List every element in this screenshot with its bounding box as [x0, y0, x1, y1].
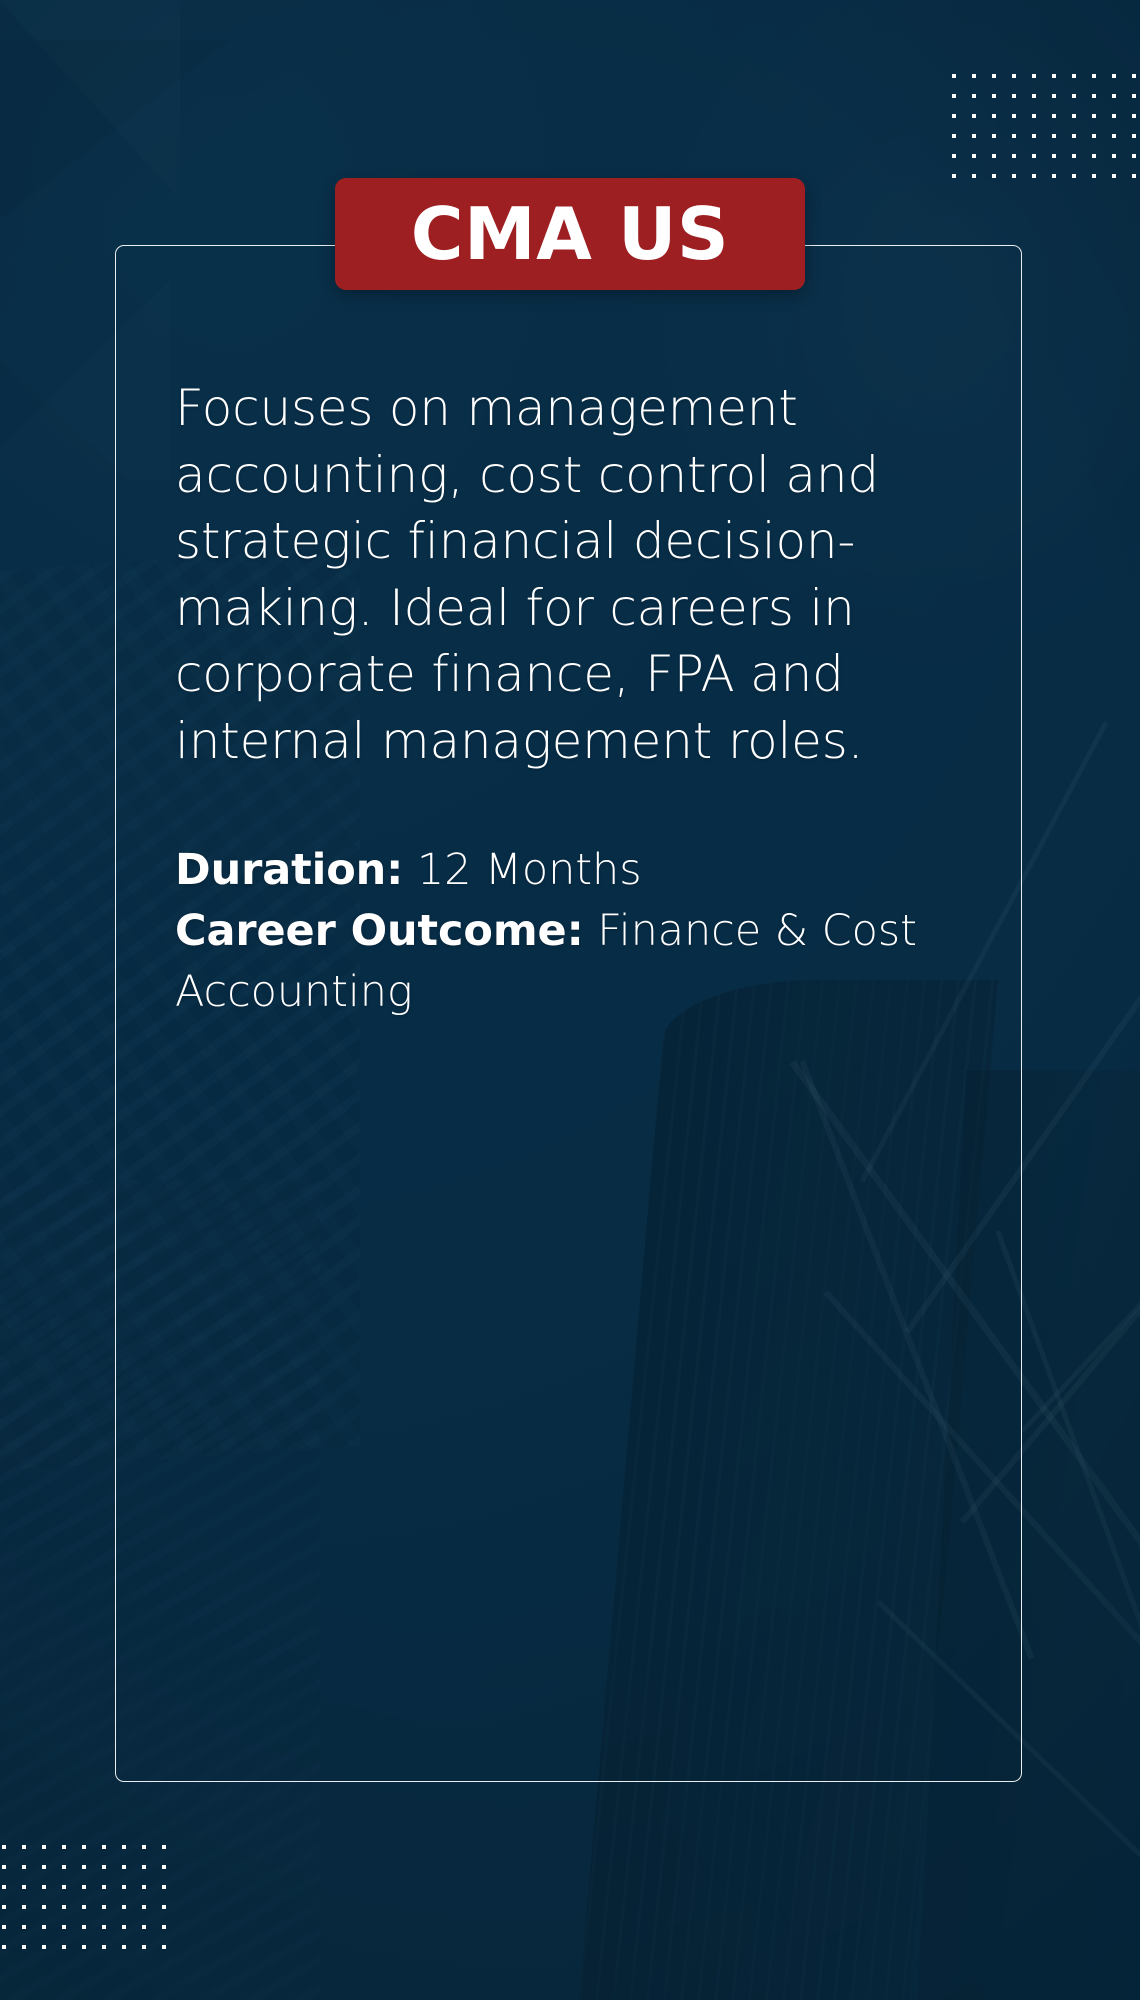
grid-dot — [2, 1865, 6, 1869]
grid-dot — [122, 1905, 126, 1909]
grid-dot — [1032, 74, 1036, 78]
grid-dot — [1112, 74, 1116, 78]
course-meta-list: Duration: 12 MonthsCareer Outcome: Finan… — [175, 840, 965, 1023]
grid-dot — [102, 1925, 106, 1929]
card-content: Focuses on management accounting, cost c… — [175, 375, 965, 1023]
grid-dot — [1032, 114, 1036, 118]
grid-dot — [42, 1845, 46, 1849]
grid-dot — [1032, 174, 1036, 178]
grid-dot — [82, 1925, 86, 1929]
grid-dot — [1092, 94, 1096, 98]
grid-dot — [992, 94, 996, 98]
grid-dot — [1052, 134, 1056, 138]
grid-dot — [62, 1865, 66, 1869]
grid-dot — [82, 1845, 86, 1849]
grid-dot — [122, 1865, 126, 1869]
grid-dot — [82, 1885, 86, 1889]
grid-dot — [992, 74, 996, 78]
grid-dot — [82, 1945, 86, 1949]
certification-badge: CMA US — [335, 178, 805, 290]
course-description: Focuses on management accounting, cost c… — [175, 375, 935, 774]
grid-dot — [1132, 74, 1136, 78]
grid-dot — [1112, 174, 1116, 178]
grid-dot — [122, 1925, 126, 1929]
grid-dot — [972, 154, 976, 158]
grid-dot — [102, 1905, 106, 1909]
grid-dot — [142, 1865, 146, 1869]
grid-dot — [142, 1925, 146, 1929]
grid-dot — [972, 94, 976, 98]
grid-dot — [1012, 174, 1016, 178]
grid-dot — [1112, 134, 1116, 138]
grid-dot — [2, 1885, 6, 1889]
grid-dot — [1032, 134, 1036, 138]
grid-dot — [102, 1845, 106, 1849]
grid-dot — [952, 174, 956, 178]
grid-dot — [972, 134, 976, 138]
grid-dot — [1012, 74, 1016, 78]
grid-dot — [1072, 114, 1076, 118]
grid-dot — [952, 74, 956, 78]
grid-dot — [1132, 154, 1136, 158]
grid-dot — [62, 1925, 66, 1929]
grid-dot — [1112, 114, 1116, 118]
grid-dot — [82, 1865, 86, 1869]
course-meta-value: 12 Months — [403, 845, 641, 895]
grid-dot — [62, 1945, 66, 1949]
grid-dot — [142, 1845, 146, 1849]
grid-dot — [162, 1885, 166, 1889]
grid-dot — [1092, 134, 1096, 138]
grid-dot — [22, 1845, 26, 1849]
grid-dot — [1012, 134, 1016, 138]
grid-dot — [22, 1885, 26, 1889]
grid-dot — [122, 1945, 126, 1949]
grid-dot — [162, 1905, 166, 1909]
grid-dot — [2, 1905, 6, 1909]
grid-dot — [142, 1905, 146, 1909]
grid-dot — [102, 1945, 106, 1949]
grid-dot — [972, 114, 976, 118]
grid-dot — [2, 1945, 6, 1949]
course-meta-row: Duration: 12 Months — [175, 840, 965, 901]
grid-dot — [42, 1865, 46, 1869]
grid-dot — [1032, 154, 1036, 158]
grid-dot — [162, 1865, 166, 1869]
grid-dot — [952, 154, 956, 158]
grid-dot — [2, 1925, 6, 1929]
grid-dot — [1072, 154, 1076, 158]
grid-dot — [1052, 114, 1056, 118]
grid-dot — [992, 134, 996, 138]
course-meta-key: Career Outcome: — [175, 906, 584, 956]
grid-dot — [162, 1925, 166, 1929]
course-meta-key: Duration: — [175, 845, 403, 895]
grid-dot — [122, 1845, 126, 1849]
grid-dot — [162, 1945, 166, 1949]
grid-dot — [972, 174, 976, 178]
certification-badge-label: CMA US — [411, 198, 730, 270]
grid-dot — [1132, 134, 1136, 138]
grid-dot — [1092, 74, 1096, 78]
grid-dot — [102, 1885, 106, 1889]
grid-dot — [1112, 94, 1116, 98]
grid-dot — [62, 1845, 66, 1849]
grid-dot — [1092, 154, 1096, 158]
grid-dot — [22, 1945, 26, 1949]
grid-dot — [62, 1885, 66, 1889]
grid-dot — [122, 1885, 126, 1889]
grid-dot — [952, 134, 956, 138]
grid-dot — [1032, 94, 1036, 98]
grid-dot — [22, 1865, 26, 1869]
grid-dot — [1072, 74, 1076, 78]
grid-dot — [1092, 174, 1096, 178]
grid-dot — [992, 154, 996, 158]
grid-dot — [42, 1885, 46, 1889]
grid-dot — [62, 1905, 66, 1909]
grid-dot — [162, 1845, 166, 1849]
grid-dot — [1092, 114, 1096, 118]
grid-dot — [1072, 134, 1076, 138]
grid-dot — [1012, 94, 1016, 98]
grid-dot — [1012, 114, 1016, 118]
grid-dot — [1052, 174, 1056, 178]
grid-dot — [1072, 94, 1076, 98]
grid-dot — [992, 174, 996, 178]
grid-dot — [1132, 174, 1136, 178]
grid-dot — [42, 1925, 46, 1929]
grid-dot — [142, 1885, 146, 1889]
grid-dot — [42, 1905, 46, 1909]
grid-dot — [1112, 154, 1116, 158]
grid-dot — [1052, 94, 1056, 98]
grid-dot — [102, 1865, 106, 1869]
grid-dot — [952, 114, 956, 118]
grid-dot — [1072, 174, 1076, 178]
grid-dot — [22, 1925, 26, 1929]
grid-dot — [2, 1845, 6, 1849]
grid-dot — [1012, 154, 1016, 158]
grid-dot — [42, 1945, 46, 1949]
grid-dot — [1052, 154, 1056, 158]
grid-dot — [1132, 94, 1136, 98]
course-meta-row: Career Outcome: Finance & Cost Accountin… — [175, 901, 965, 1023]
grid-dot — [952, 94, 956, 98]
grid-dot — [82, 1905, 86, 1909]
grid-dot — [1132, 114, 1136, 118]
grid-dot — [972, 74, 976, 78]
grid-dot — [22, 1905, 26, 1909]
grid-dot — [992, 114, 996, 118]
grid-dot — [1052, 74, 1056, 78]
grid-dot — [142, 1945, 146, 1949]
